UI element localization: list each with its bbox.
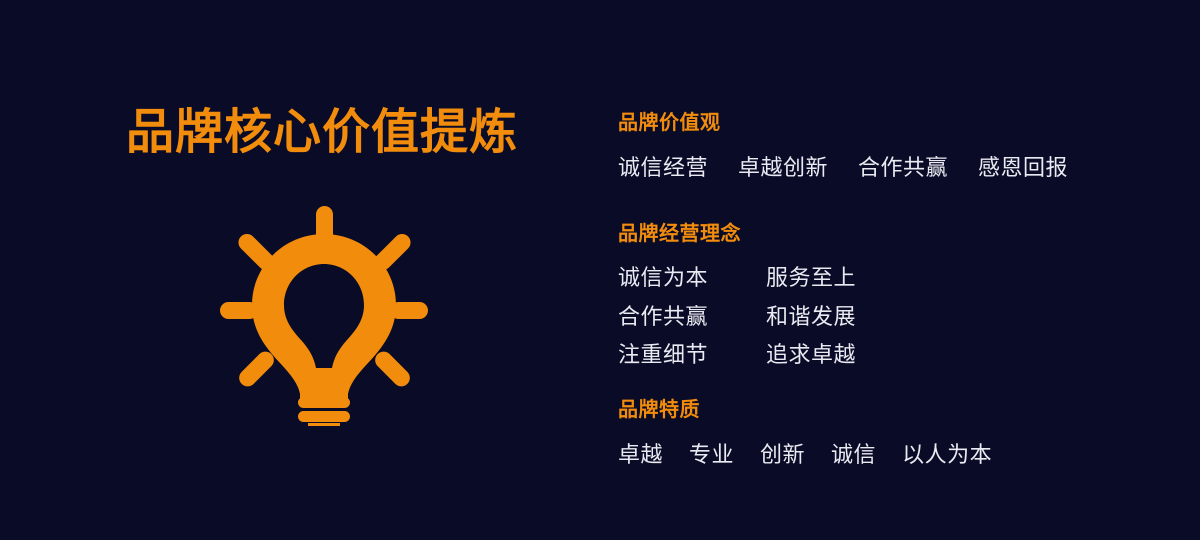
right-column: 品牌价值观 诚信经营卓越创新合作共赢感恩回报 品牌经营理念 诚信为本 服务至上 … [618, 0, 1178, 540]
list-item: 感恩回报 [978, 153, 1068, 183]
list-item: 卓越 [618, 440, 663, 470]
list-item: 创新 [760, 440, 805, 470]
section-brand-philosophy: 品牌经营理念 诚信为本 服务至上 合作共赢 和谐发展 注重细节 追求卓越 [618, 221, 1178, 370]
section-heading: 品牌经营理念 [618, 221, 1178, 247]
list-item: 专业 [689, 440, 734, 470]
list-item: 诚信为本 [618, 263, 744, 293]
lightbulb-icon-svg [218, 198, 430, 426]
list-item: 合作共赢 [618, 302, 744, 332]
list-item: 诚信经营 [618, 153, 708, 183]
section-brand-traits: 品牌特质 卓越专业创新诚信以人为本 [618, 397, 1178, 470]
bulb-glass [252, 234, 396, 400]
list-item: 卓越创新 [738, 153, 828, 183]
section-item-list: 卓越专业创新诚信以人为本 [618, 440, 1178, 470]
list-item: 服务至上 [766, 263, 918, 293]
list-item: 追求卓越 [766, 340, 918, 370]
list-item: 以人为本 [902, 440, 992, 470]
page-title: 品牌核心价值提炼 [126, 104, 518, 162]
list-item: 和谐发展 [766, 302, 918, 332]
left-column: 品牌核心价值提炼 [0, 0, 580, 540]
section-heading: 品牌价值观 [618, 110, 1178, 136]
bulb-base-tip [308, 423, 340, 426]
bulb-base-band-2 [298, 411, 350, 422]
bulb-ray-lower-left [236, 348, 278, 390]
bulb-ray-lower-right [372, 348, 414, 390]
list-item: 合作共赢 [858, 153, 948, 183]
slide-root: 品牌核心价值提炼 [0, 0, 1200, 540]
section-brand-values: 品牌价值观 诚信经营卓越创新合作共赢感恩回报 [618, 110, 1178, 183]
list-item: 诚信 [831, 440, 876, 470]
section-heading: 品牌特质 [618, 397, 1178, 423]
section-item-grid: 诚信为本 服务至上 合作共赢 和谐发展 注重细节 追求卓越 [618, 263, 918, 370]
bulb-base-band-1 [298, 397, 350, 408]
section-item-list: 诚信经营卓越创新合作共赢感恩回报 [618, 153, 1178, 183]
list-item: 注重细节 [618, 340, 744, 370]
lightbulb-icon [218, 198, 430, 426]
